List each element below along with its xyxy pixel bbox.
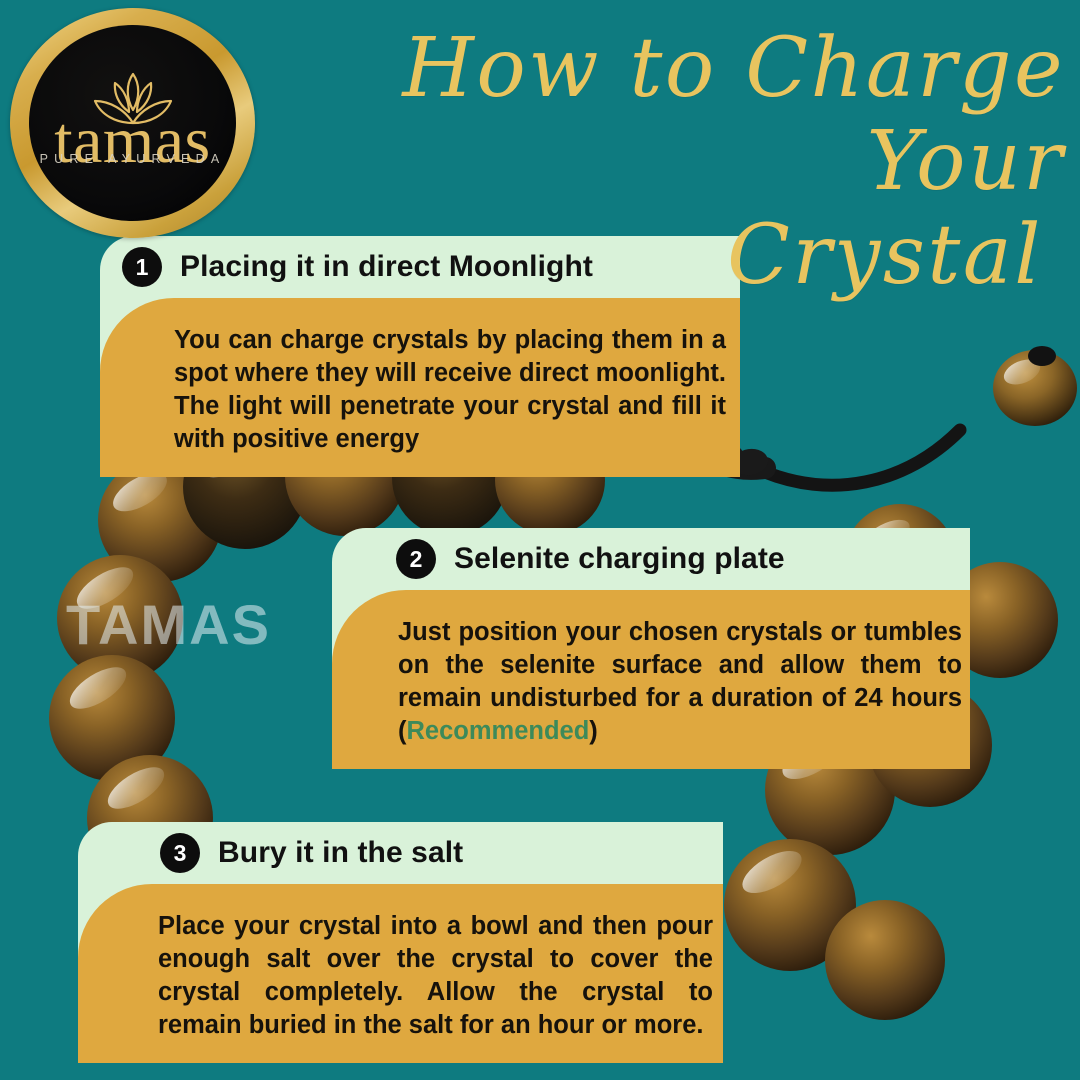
recommended-highlight: Recommended bbox=[407, 717, 590, 745]
page-title: How to Charge Your Crystal bbox=[330, 22, 1065, 302]
page-title-line-1: How to Charge Your bbox=[330, 22, 1065, 209]
step-card-2: 2 Selenite charging plate Just position … bbox=[332, 528, 970, 769]
step-3-title: Bury it in the salt bbox=[218, 836, 463, 870]
step-card-3: 3 Bury it in the salt Place your crystal… bbox=[78, 822, 723, 1063]
step-1-body: You can charge crystals by placing them … bbox=[100, 298, 740, 477]
step-3-number-badge: 3 bbox=[160, 833, 200, 873]
paren-close: ) bbox=[589, 717, 598, 745]
step-2-body-text: Just position your chosen crystals or tu… bbox=[398, 618, 962, 712]
step-3-header: 3 Bury it in the salt bbox=[78, 822, 723, 884]
step-1-body-wrap: You can charge crystals by placing them … bbox=[100, 298, 740, 477]
step-2-body-wrap: Just position your chosen crystals or tu… bbox=[332, 590, 970, 769]
step-2-header: 2 Selenite charging plate bbox=[332, 528, 970, 590]
page-title-line-2: Crystal bbox=[330, 209, 1065, 302]
step-2-number-badge: 2 bbox=[396, 539, 436, 579]
brand-logo: tamas PURE AYURVEDA bbox=[10, 8, 255, 238]
logo-tagline: PURE AYURVEDA bbox=[40, 152, 226, 166]
paren-open: ( bbox=[398, 717, 407, 745]
step-3-body: Place your crystal into a bowl and then … bbox=[78, 884, 723, 1063]
step-2-body-note: (Recommended) bbox=[398, 717, 598, 745]
step-1-number-badge: 1 bbox=[122, 247, 162, 287]
step-2-body: Just position your chosen crystals or tu… bbox=[332, 590, 970, 769]
step-3-body-wrap: Place your crystal into a bowl and then … bbox=[78, 884, 723, 1063]
step-2-title: Selenite charging plate bbox=[454, 542, 785, 576]
